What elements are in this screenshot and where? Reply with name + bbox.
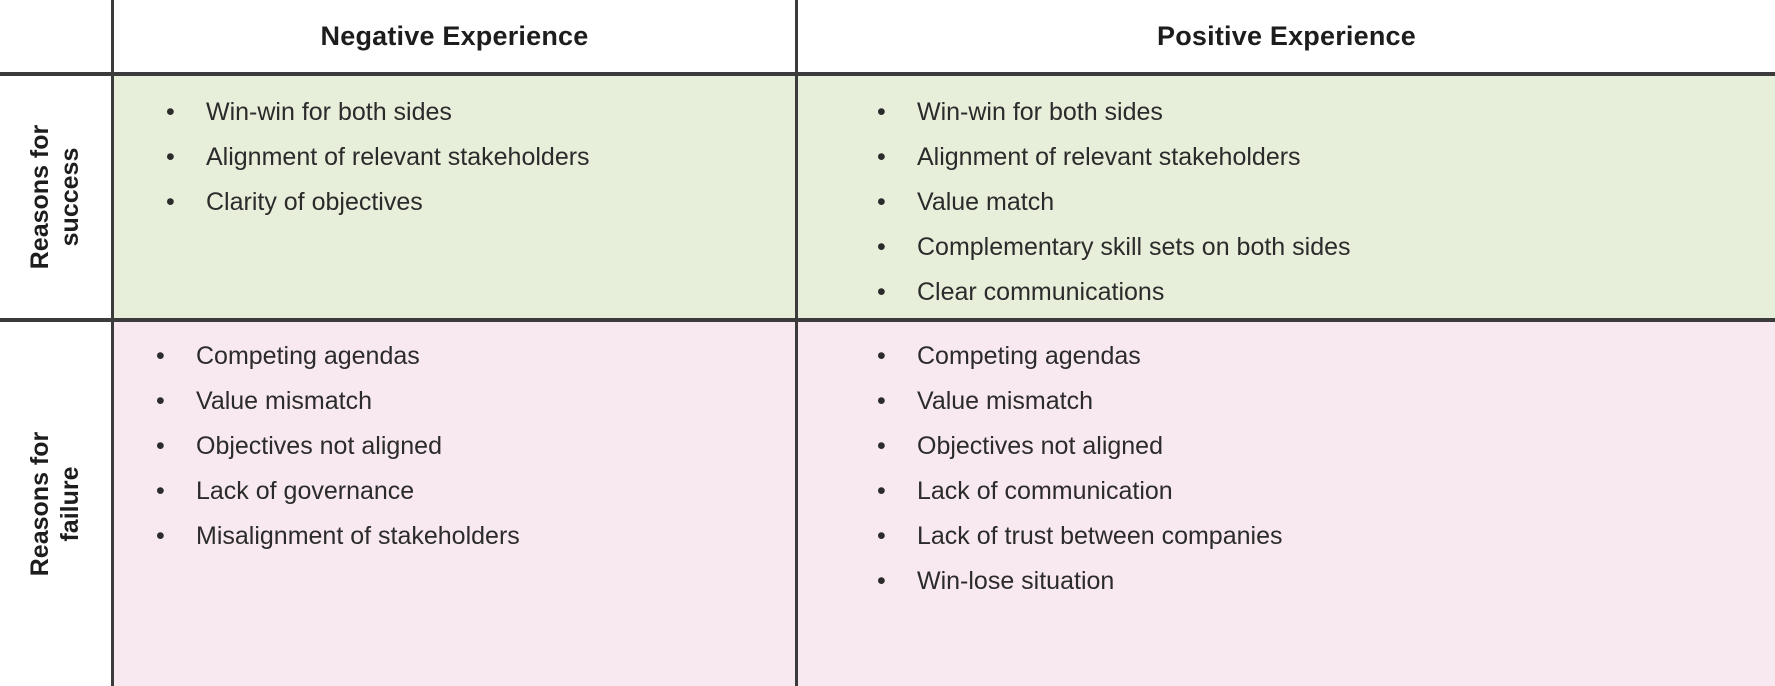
list-item-label: Clarity of objectives (206, 188, 423, 216)
list-item-label: Win-win for both sides (917, 98, 1163, 126)
list-item: •Competing agendas (152, 334, 795, 379)
list-item: •Value mismatch (873, 379, 1775, 424)
bullet-list-success-negative: •Win-win for both sides•Alignment of rel… (114, 76, 795, 225)
bullet-icon: • (877, 270, 886, 315)
bullet-icon: • (156, 379, 165, 424)
row-label-failure-text: Reasons for failure (26, 432, 86, 576)
list-item-label: Complementary skill sets on both sides (917, 233, 1351, 261)
list-item: •Clarity of objectives (162, 180, 795, 225)
list-item: •Competing agendas (873, 334, 1775, 379)
row-label-success-text: Reasons for success (26, 125, 86, 269)
list-item-label: Clear communications (917, 278, 1164, 306)
bullet-list-failure-positive: •Competing agendas•Value mismatch•Object… (798, 322, 1775, 604)
bullet-icon: • (877, 514, 886, 559)
list-item: •Lack of governance (152, 469, 795, 514)
list-item: •Misalignment of stakeholders (152, 514, 795, 559)
column-header-negative-experience: Negative Experience (114, 0, 795, 72)
row-label-failure-line2: failure (56, 432, 86, 576)
row-label-success-line2: success (56, 125, 86, 269)
list-item-label: Objectives not aligned (917, 432, 1163, 460)
list-item: •Complementary skill sets on both sides (873, 225, 1775, 270)
row-label-failure-line1: Reasons for (26, 432, 56, 576)
row-label-reasons-for-success: Reasons for success (0, 76, 111, 318)
bullet-icon: • (166, 90, 175, 135)
list-item-label: Lack of governance (196, 477, 414, 505)
list-item-label: Value mismatch (196, 387, 372, 415)
list-item-label: Value mismatch (917, 387, 1093, 415)
bullet-icon: • (877, 180, 886, 225)
bullet-icon: • (877, 559, 886, 604)
list-item: •Lack of trust between companies (873, 514, 1775, 559)
list-item-label: Value match (917, 188, 1054, 216)
comparison-matrix: Negative Experience Positive Experience … (0, 0, 1775, 686)
column-header-positive-experience: Positive Experience (798, 0, 1775, 72)
list-item: •Alignment of relevant stakeholders (873, 135, 1775, 180)
list-item-label: Win-lose situation (917, 567, 1114, 595)
list-item: •Value match (873, 180, 1775, 225)
list-item-label: Competing agendas (917, 342, 1141, 370)
bullet-icon: • (156, 424, 165, 469)
cell-failure-positive: •Competing agendas•Value mismatch•Object… (798, 322, 1775, 686)
list-item: •Objectives not aligned (873, 424, 1775, 469)
list-item: •Value mismatch (152, 379, 795, 424)
bullet-icon: • (877, 334, 886, 379)
bullet-icon: • (877, 379, 886, 424)
list-item: •Lack of communication (873, 469, 1775, 514)
list-item-label: Objectives not aligned (196, 432, 442, 460)
list-item-label: Win-win for both sides (206, 98, 452, 126)
row-label-reasons-for-failure: Reasons for failure (0, 322, 111, 686)
cell-failure-negative: •Competing agendas•Value mismatch•Object… (114, 322, 795, 686)
bullet-icon: • (156, 469, 165, 514)
list-item: •Win-win for both sides (873, 90, 1775, 135)
bullet-icon: • (166, 180, 175, 225)
bullet-icon: • (877, 225, 886, 270)
row-label-success-line1: Reasons for (26, 125, 56, 269)
cell-success-positive: •Win-win for both sides•Alignment of rel… (798, 76, 1775, 318)
bullet-icon: • (877, 90, 886, 135)
row-label-divider-vertical (111, 0, 114, 686)
list-item-label: Lack of trust between companies (917, 522, 1282, 550)
header-divider-horizontal (0, 72, 1775, 76)
list-item-label: Lack of communication (917, 477, 1173, 505)
list-item-label: Competing agendas (196, 342, 420, 370)
list-item: •Win-win for both sides (162, 90, 795, 135)
list-item: •Win-lose situation (873, 559, 1775, 604)
list-item-label: Alignment of relevant stakeholders (206, 143, 590, 171)
table-header-row: Negative Experience Positive Experience (0, 0, 1775, 72)
bullet-icon: • (156, 514, 165, 559)
cell-success-negative: •Win-win for both sides•Alignment of rel… (114, 76, 795, 318)
bullet-icon: • (877, 424, 886, 469)
bullet-icon: • (877, 135, 886, 180)
list-item-label: Misalignment of stakeholders (196, 522, 520, 550)
bullet-icon: • (166, 135, 175, 180)
bullet-icon: • (156, 334, 165, 379)
list-item: •Alignment of relevant stakeholders (162, 135, 795, 180)
list-item: •Objectives not aligned (152, 424, 795, 469)
bullet-list-success-positive: •Win-win for both sides•Alignment of rel… (798, 76, 1775, 315)
column-divider-vertical (795, 0, 798, 686)
list-item-label: Alignment of relevant stakeholders (917, 143, 1301, 171)
list-item: •Clear communications (873, 270, 1775, 315)
row-divider-horizontal (0, 318, 1775, 322)
bullet-icon: • (877, 469, 886, 514)
bullet-list-failure-negative: •Competing agendas•Value mismatch•Object… (114, 322, 795, 559)
